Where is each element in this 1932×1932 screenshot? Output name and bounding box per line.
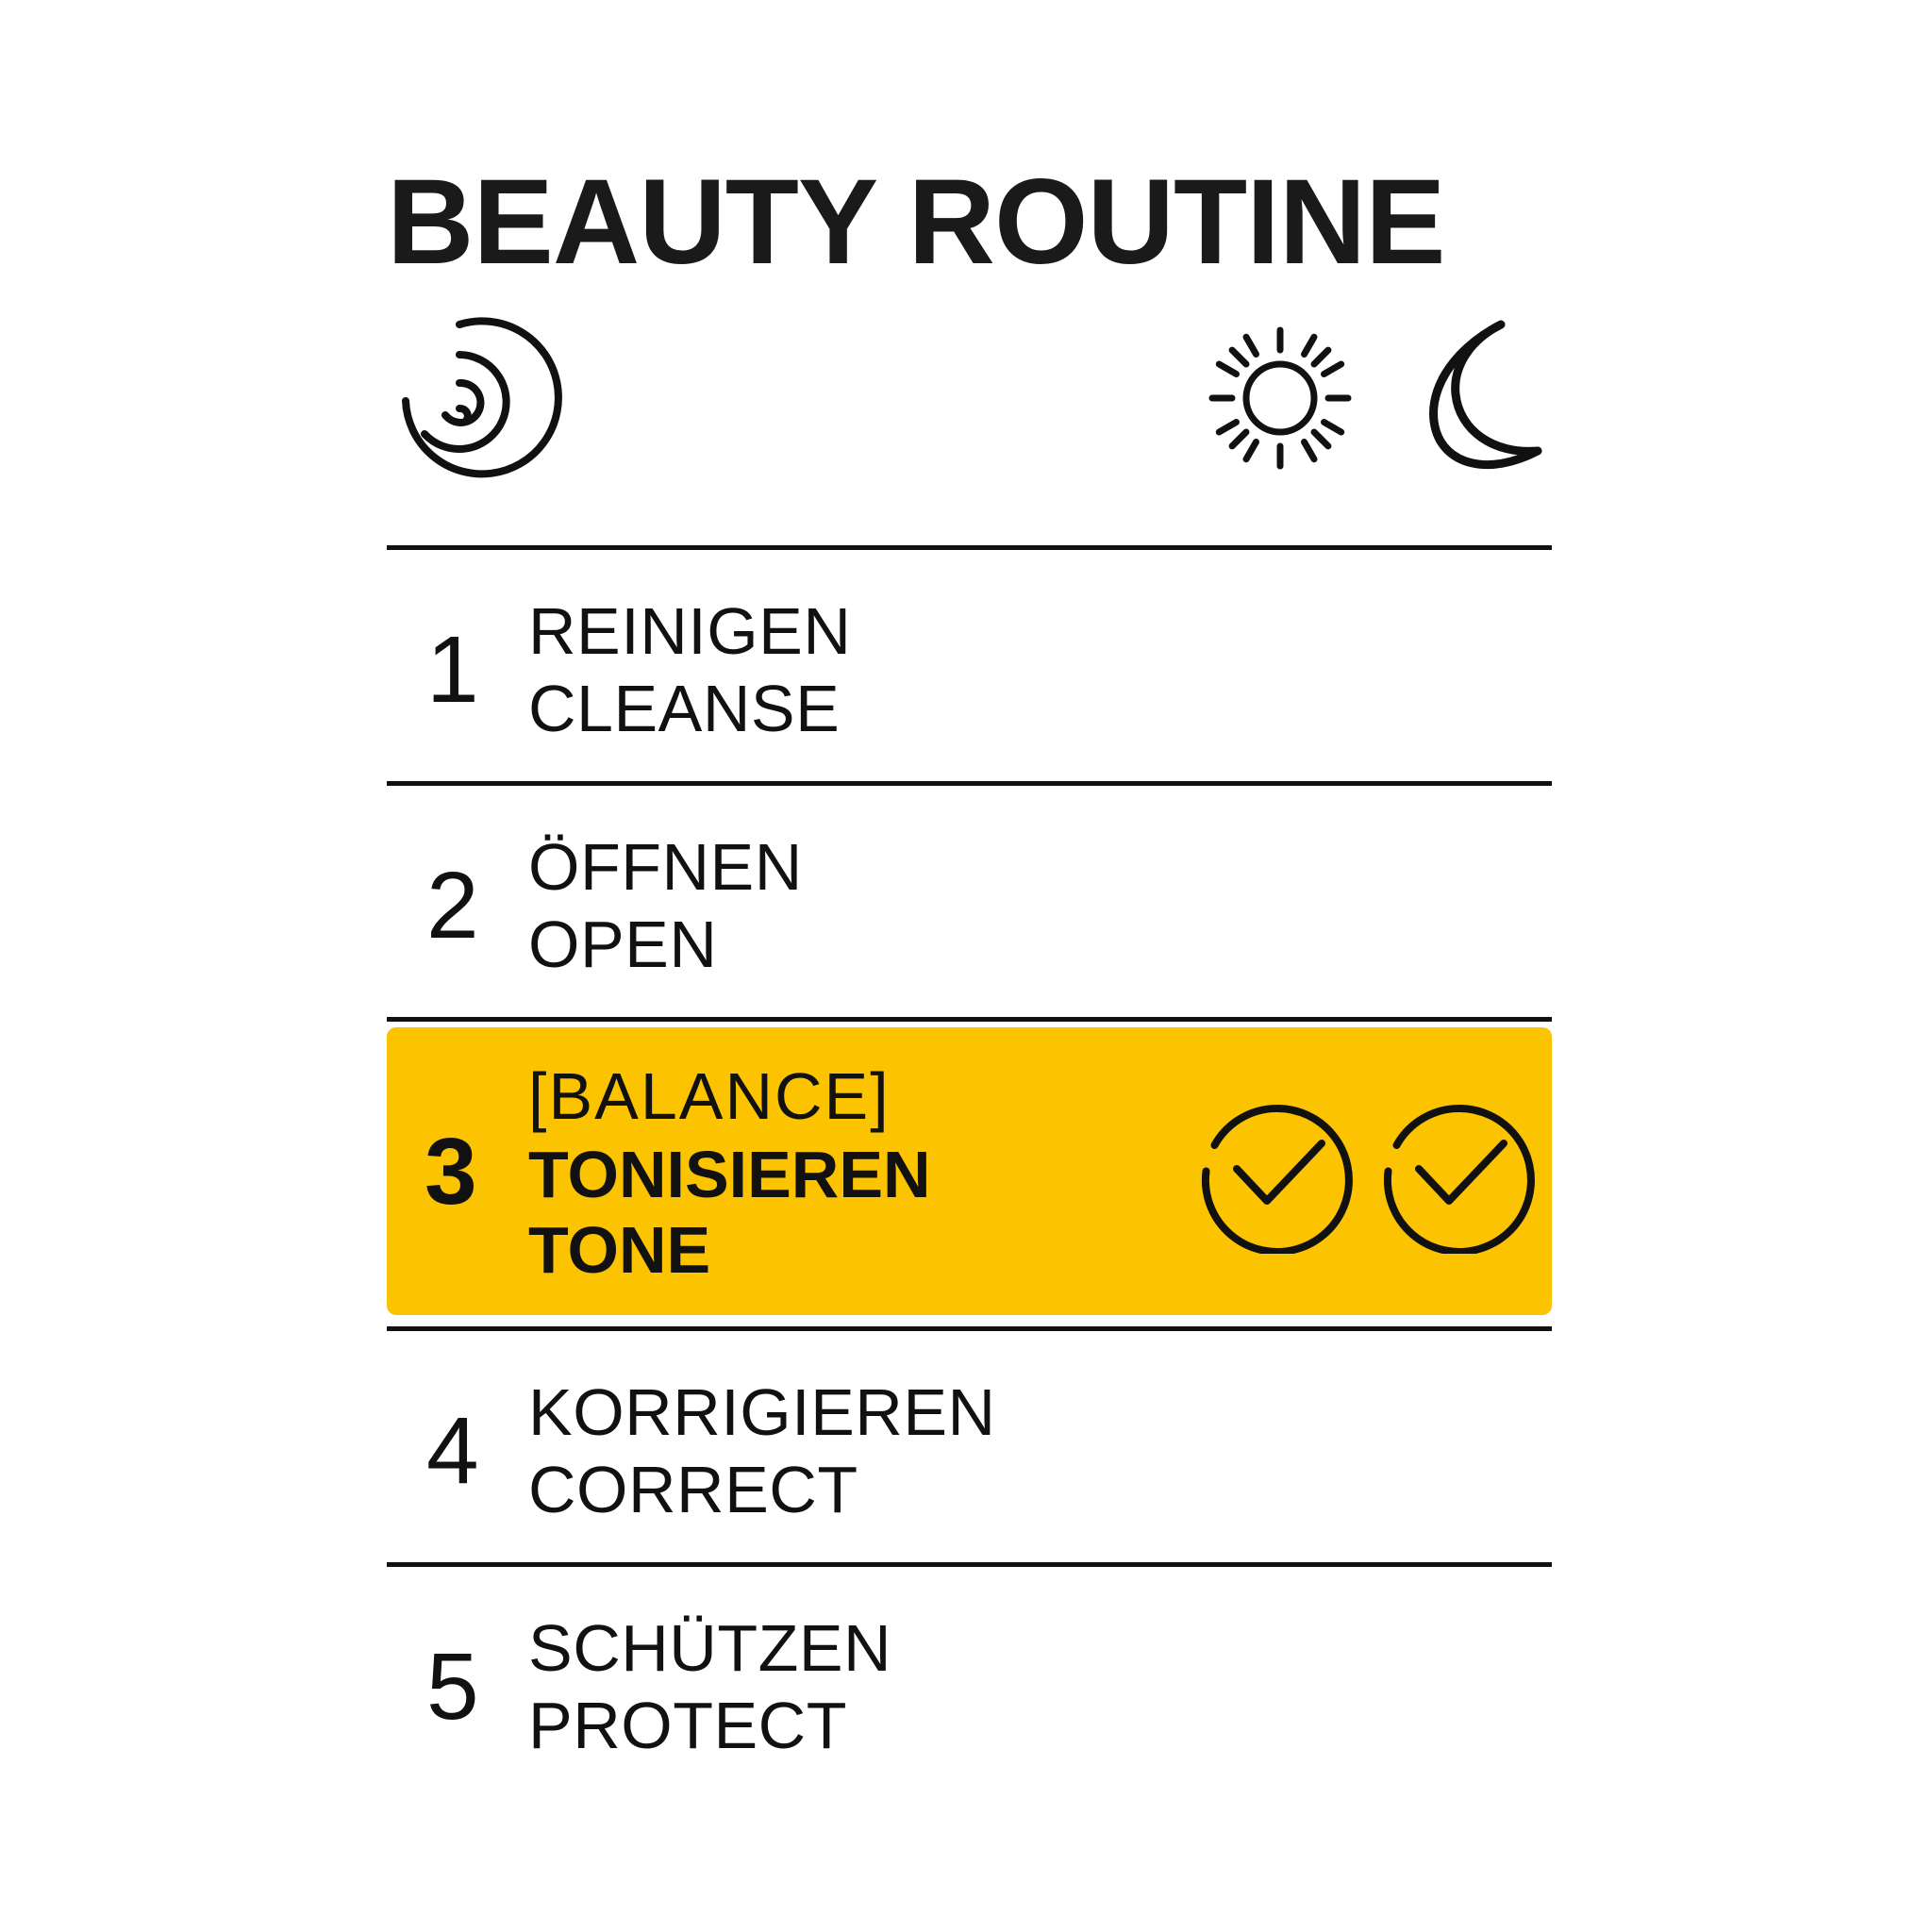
step-row-1[interactable]: 1 REINIGEN CLEANSE <box>387 585 1552 755</box>
daynight-icon-group <box>1205 315 1552 480</box>
step-labels-1: REINIGEN CLEANSE <box>528 592 1552 747</box>
divider-4 <box>387 1326 1552 1331</box>
step-label-en-4: CORRECT <box>528 1451 1552 1528</box>
step-label-de-4: KORRIGIEREN <box>528 1374 1552 1451</box>
step-bracket-label-3: [BALANCE] <box>528 1056 1195 1137</box>
content-column: BEAUTY ROUTINE <box>387 0 1552 1932</box>
divider-5 <box>387 1562 1552 1567</box>
check-circle-icon <box>1377 1089 1542 1254</box>
sun-icon <box>1205 323 1356 474</box>
moon-icon <box>1391 315 1552 480</box>
step-label-en-5: PROTECT <box>528 1687 1552 1764</box>
page-title: BEAUTY ROUTINE <box>387 162 1445 283</box>
step-row-3-highlighted[interactable]: 3 [BALANCE] TONISIEREN TONE <box>387 1027 1552 1315</box>
step-row-5[interactable]: 5 SCHÜTZEN PROTECT <box>387 1602 1552 1772</box>
step-row-2[interactable]: 2 ÖFFNEN OPEN <box>387 821 1552 991</box>
step-label-de-1: REINIGEN <box>528 592 1552 670</box>
step-label-de-5: SCHÜTZEN <box>528 1609 1552 1687</box>
divider-3 <box>387 1017 1552 1022</box>
step-label-en-2: OPEN <box>528 906 1552 983</box>
step-label-en-1: CLEANSE <box>528 670 1552 747</box>
step-number-2: 2 <box>387 858 528 953</box>
step-labels-4: KORRIGIEREN CORRECT <box>528 1374 1552 1528</box>
divider-2 <box>387 781 1552 786</box>
step-label-de-3: TONISIEREN <box>528 1137 1195 1212</box>
check-group <box>1195 1089 1552 1254</box>
step-labels-2: ÖFFNEN OPEN <box>528 828 1552 983</box>
step-label-en-3: TONE <box>528 1212 1195 1288</box>
check-circle-icon <box>1195 1089 1360 1254</box>
step-labels-5: SCHÜTZEN PROTECT <box>528 1609 1552 1764</box>
step-number-3: 3 <box>387 1124 528 1219</box>
step-number-5: 5 <box>387 1640 528 1734</box>
step-number-4: 4 <box>387 1404 528 1498</box>
concentric-arcs-icon <box>389 311 568 491</box>
step-number-1: 1 <box>387 623 528 717</box>
step-labels-3: [BALANCE] TONISIEREN TONE <box>528 1056 1195 1288</box>
icon-strip <box>387 311 1552 481</box>
divider-1 <box>387 545 1552 550</box>
step-label-de-2: ÖFFNEN <box>528 828 1552 906</box>
step-row-4[interactable]: 4 KORRIGIEREN CORRECT <box>387 1366 1552 1536</box>
beauty-routine-infographic: BEAUTY ROUTINE <box>0 0 1932 1932</box>
